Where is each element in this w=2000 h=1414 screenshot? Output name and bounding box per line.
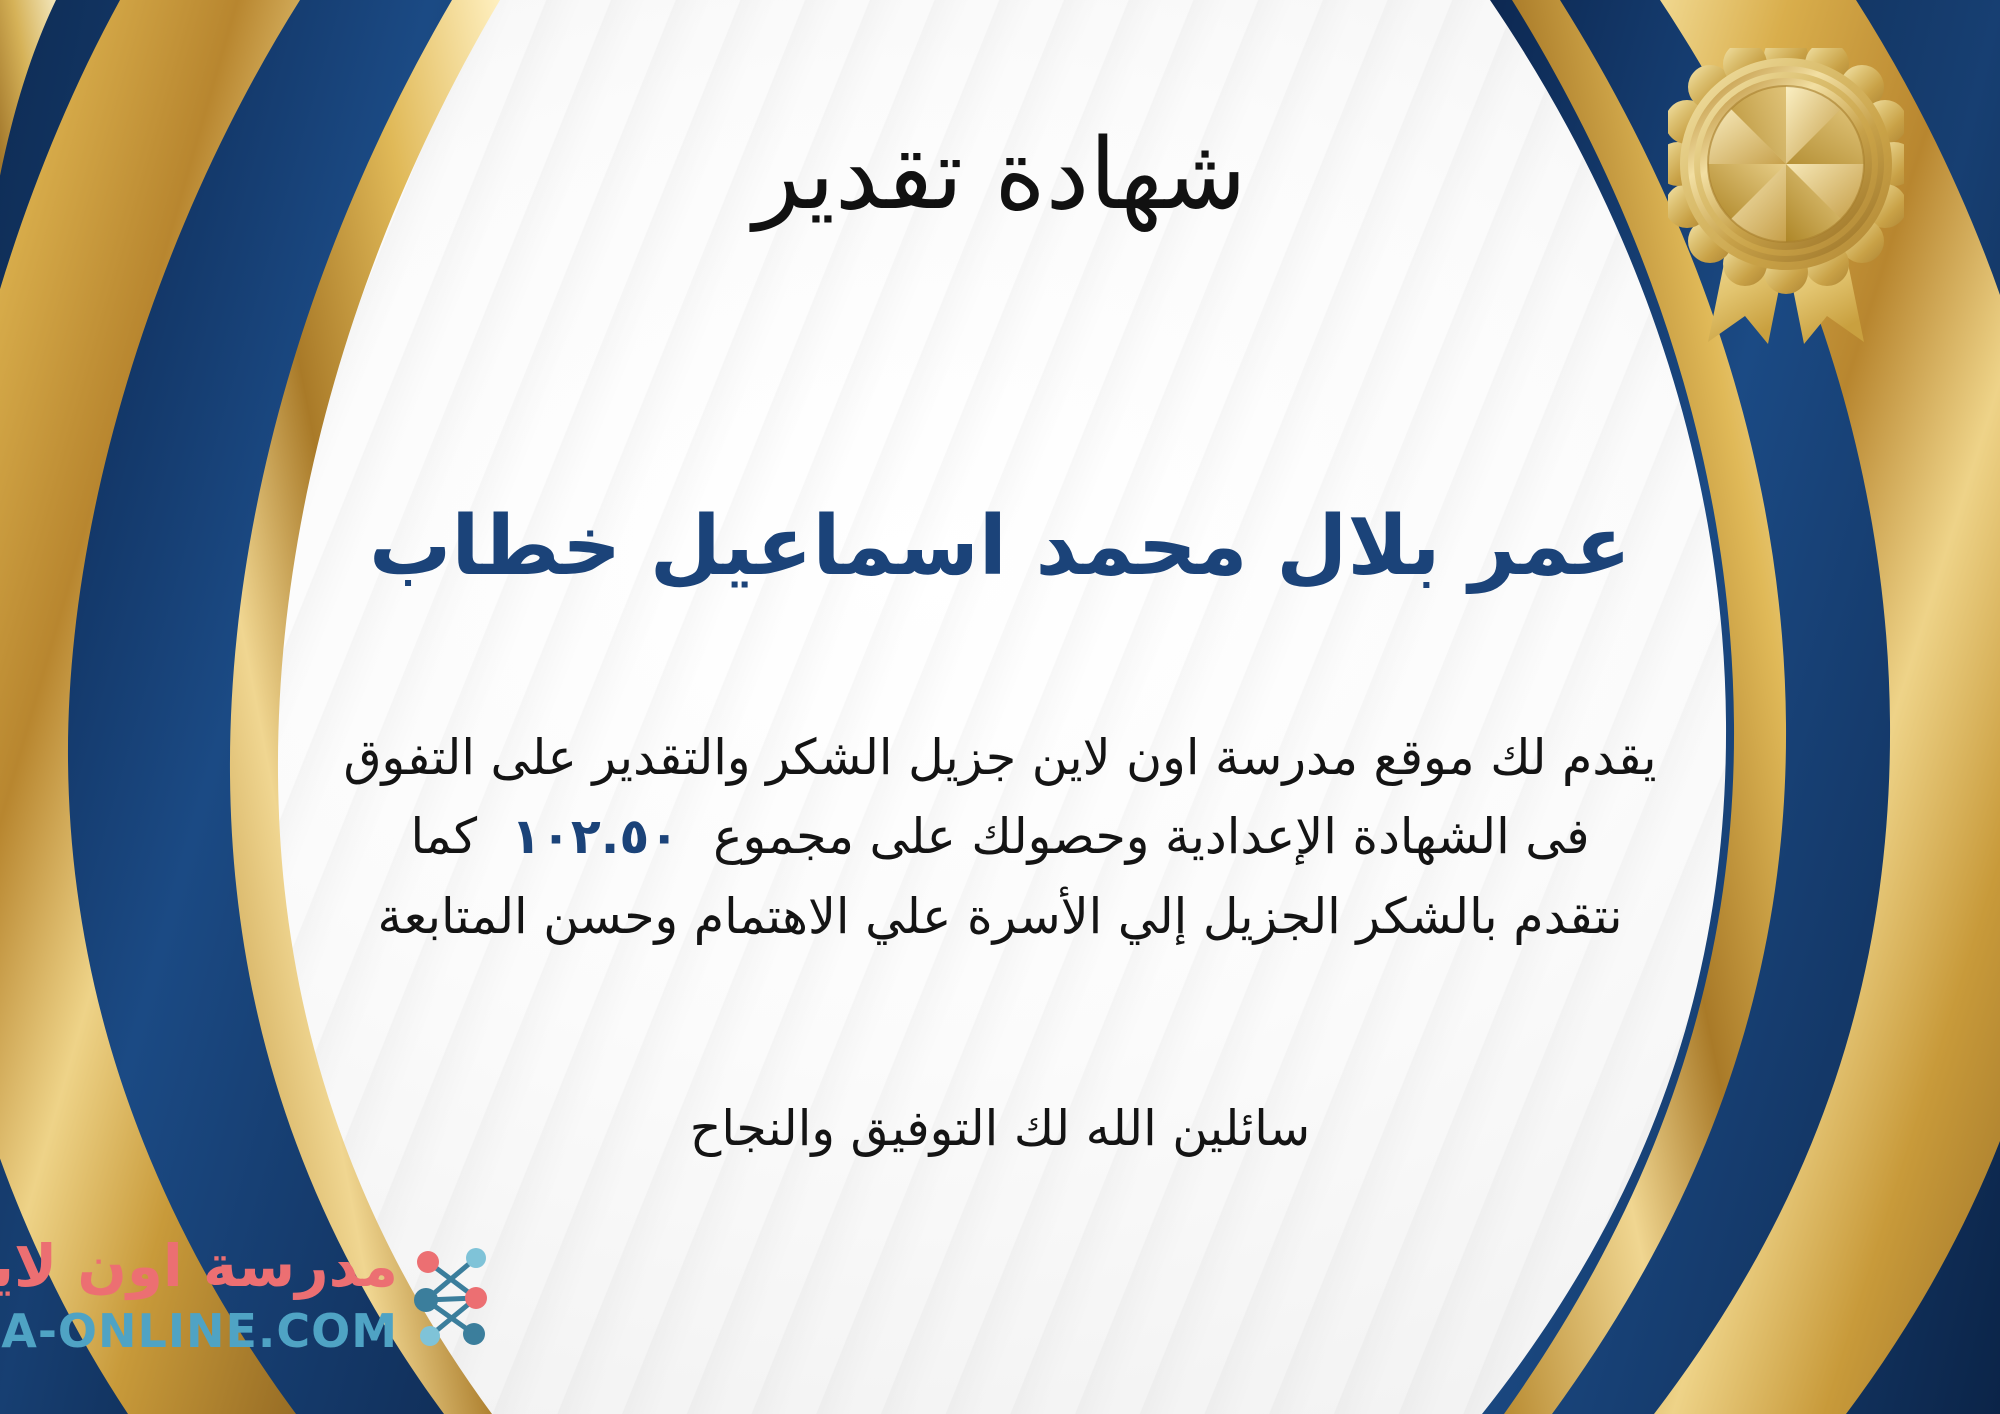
body-line-2-prefix: فى الشهادة الإعدادية وحصولك على مجموع bbox=[713, 808, 1589, 865]
certificate-content: شهادة تقدير عمر بلال محمد اسماعيل خطاب ي… bbox=[0, 0, 2000, 1414]
brand-logo[interactable]: مدرسة اون لاين MADRSA-ONLINE.COM bbox=[26, 1230, 506, 1380]
certificate-page: شهادة تقدير عمر بلال محمد اسماعيل خطاب ي… bbox=[0, 0, 2000, 1414]
body-line-2: فى الشهادة الإعدادية وحصولك على مجموع١٠٢… bbox=[60, 797, 1940, 876]
network-nodes-icon bbox=[404, 1236, 500, 1356]
body-line-3: نتقدم بالشكر الجزيل إلي الأسرة علي الاهت… bbox=[60, 877, 1940, 956]
recipient-name: عمر بلال محمد اسماعيل خطاب bbox=[0, 500, 2000, 594]
brand-logo-arabic-text: مدرسة اون لاين bbox=[0, 1232, 398, 1300]
certificate-body: يقدم لك موقع مدرسة اون لاين جزيل الشكر و… bbox=[60, 718, 1940, 956]
certificate-title: شهادة تقدير bbox=[0, 122, 2000, 230]
brand-logo-url-text: MADRSA-ONLINE.COM bbox=[0, 1304, 398, 1358]
body-line-2-suffix: كما bbox=[410, 808, 477, 865]
closing-wish: سائلين الله لك التوفيق والنجاح bbox=[0, 1100, 2000, 1157]
body-line-1: يقدم لك موقع مدرسة اون لاين جزيل الشكر و… bbox=[60, 718, 1940, 797]
grade-value: ١٠٢.٥٠ bbox=[477, 808, 713, 865]
